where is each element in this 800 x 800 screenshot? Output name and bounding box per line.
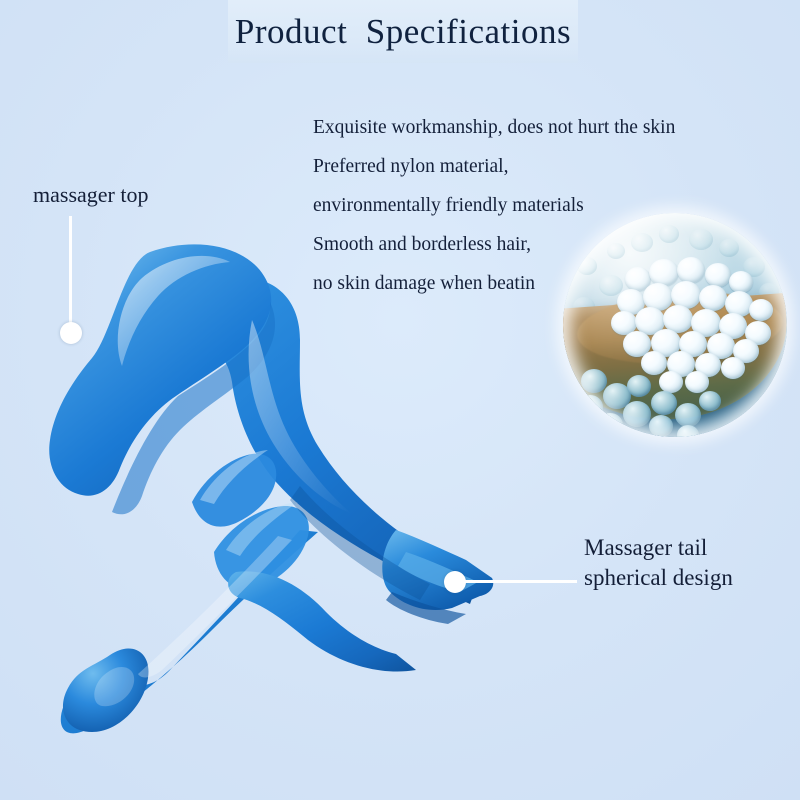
nylon-pellets-photo (563, 213, 787, 437)
callout-dot-massager-top (60, 322, 82, 344)
nylon-pellets-photo-content (563, 213, 787, 437)
callout-label-massager-top: massager top (33, 182, 148, 208)
spec-line: Preferred nylon material, (313, 147, 733, 186)
callout-label-line: Massager tail (584, 533, 794, 563)
product-specification-image: Product Specifications Exquisite workman… (0, 0, 800, 800)
callout-leader-line-tail (455, 580, 577, 583)
spec-line: Exquisite workmanship, does not hurt the… (313, 108, 733, 147)
callout-leader-line-top (69, 216, 72, 334)
callout-label-massager-tail: Massager tail spherical design (584, 533, 794, 593)
massager-product-image (0, 200, 520, 760)
callout-label-line: spherical design (584, 563, 794, 593)
page-title: Product Specifications (228, 6, 578, 58)
